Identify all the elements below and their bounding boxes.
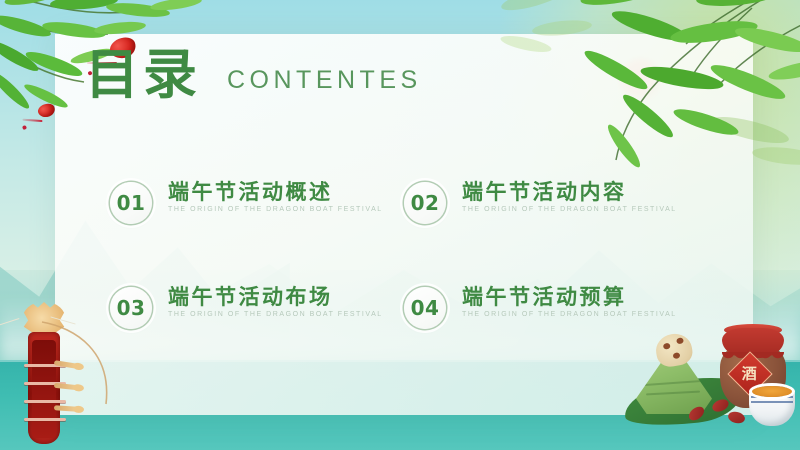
zongzi-icon: [630, 328, 722, 420]
menu-number-label: 01: [117, 191, 146, 215]
menu-title: 端午节活动预算: [462, 284, 677, 310]
bamboo-leaves-icon: [500, 0, 800, 184]
teacup-icon: [749, 382, 795, 428]
jar-label-text: 酒: [742, 366, 757, 381]
menu-item-01[interactable]: 01 端午节活动概述 THE ORIGIN OF THE DRAGON BOAT…: [110, 178, 404, 283]
menu-text-block: 端午节活动内容 THE ORIGIN OF THE DRAGON BOAT FE…: [462, 178, 677, 213]
menu-number-badge: 01: [110, 182, 152, 224]
menu-item-02[interactable]: 02 端午节活动内容 THE ORIGIN OF THE DRAGON BOAT…: [404, 178, 698, 283]
menu-title: 端午节活动概述: [168, 179, 383, 205]
dragon-boat-icon: [10, 300, 76, 450]
page-title-cn: 目录: [85, 48, 201, 102]
rice-filling: [653, 331, 694, 369]
menu-number-badge: 04: [404, 287, 446, 329]
slide-canvas: 目录 CONTENTES 01 端午节活动概述 THE ORIGIN OF TH…: [0, 0, 800, 450]
menu-subtitle: THE ORIGIN OF THE DRAGON BOAT FESTIVAL: [168, 311, 383, 318]
menu-number-label: 02: [411, 191, 440, 215]
menu-text-block: 端午节活动预算 THE ORIGIN OF THE DRAGON BOAT FE…: [462, 283, 677, 318]
page-title-en: CONTENTES: [227, 66, 422, 95]
menu-number-label: 03: [117, 296, 146, 320]
menu-text-block: 端午节活动布场 THE ORIGIN OF THE DRAGON BOAT FE…: [168, 283, 383, 318]
contents-menu: 01 端午节活动概述 THE ORIGIN OF THE DRAGON BOAT…: [110, 178, 710, 388]
menu-item-03[interactable]: 03 端午节活动布场 THE ORIGIN OF THE DRAGON BOAT…: [110, 283, 404, 388]
menu-title: 端午节活动布场: [168, 284, 383, 310]
cup-liquid: [752, 386, 792, 397]
menu-title: 端午节活动内容: [462, 179, 677, 205]
menu-number-badge: 02: [404, 182, 446, 224]
menu-subtitle: THE ORIGIN OF THE DRAGON BOAT FESTIVAL: [462, 311, 677, 318]
menu-subtitle: THE ORIGIN OF THE DRAGON BOAT FESTIVAL: [462, 206, 677, 213]
boat-rope-icon: [36, 318, 120, 428]
menu-number-label: 04: [411, 296, 440, 320]
page-title: 目录 CONTENTES: [85, 48, 422, 102]
menu-text-block: 端午节活动概述 THE ORIGIN OF THE DRAGON BOAT FE…: [168, 178, 383, 213]
menu-subtitle: THE ORIGIN OF THE DRAGON BOAT FESTIVAL: [168, 206, 383, 213]
